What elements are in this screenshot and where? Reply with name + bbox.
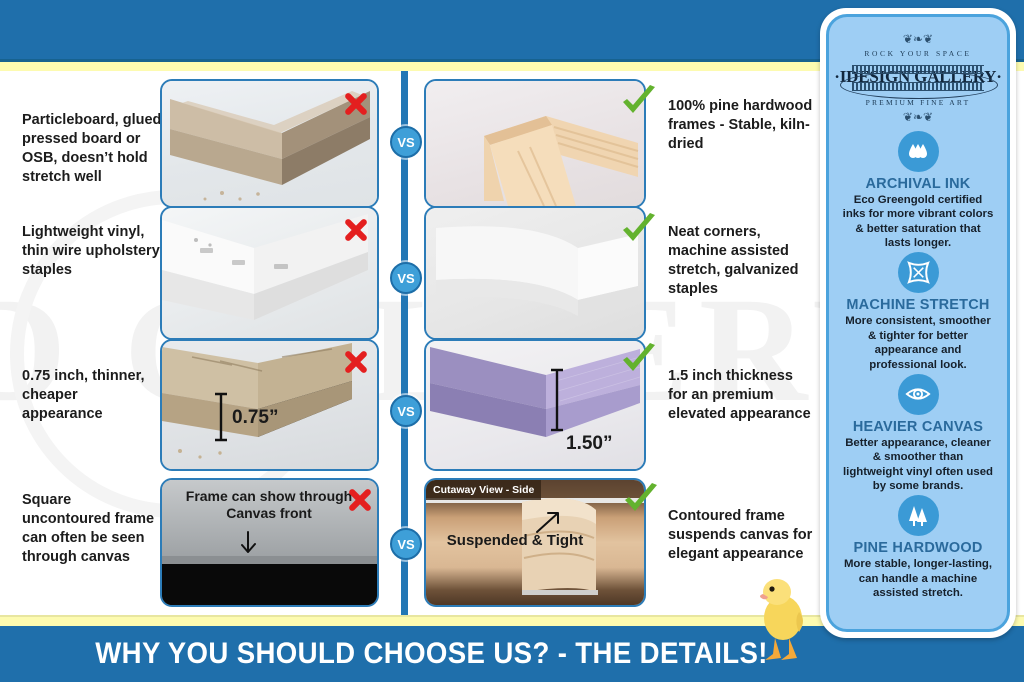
eye-icon (898, 374, 939, 415)
check-mark-icon (620, 213, 658, 252)
x-mark-icon (343, 91, 369, 122)
check-mark-icon (622, 483, 660, 522)
logo-rule (852, 82, 984, 91)
x-mark-icon (343, 217, 369, 248)
features-panel-shell: ❦❧❦ ROCK YOUR SPACE ·IDESIGN GALLERY· PR… (820, 8, 1016, 638)
row-left-label: Particleboard, glued pressed board or OS… (22, 111, 162, 186)
feature-desc: Eco Greengold certified inks for more vi… (838, 193, 998, 250)
feature-title: HEAVIER CANVAS (838, 419, 998, 435)
check-mark-icon (620, 343, 658, 382)
x-mark-icon (343, 349, 369, 380)
feature-pine-hardwood: PINE HARDWOOD More stable, longer-lastin… (838, 495, 998, 600)
vs-badge: VS (390, 395, 422, 427)
our-corner-photo (424, 206, 646, 340)
feature-machine-stretch: MACHINE STRETCH More consistent, smoothe… (838, 252, 998, 371)
watermark: ID GALLERY (0, 150, 820, 550)
vs-badge: VS (390, 528, 422, 560)
thickness-label-ours: 1.50” (566, 433, 612, 456)
row-left-label: Lightweight vinyl, thin wire upholstery … (22, 223, 162, 280)
duckling-image (755, 572, 811, 664)
infographic-page: ID GALLERY THEIR CANVAS OUR CANVAS VS VS… (0, 0, 1024, 682)
feature-title: ARCHIVAL INK (838, 176, 998, 192)
x-mark-icon (347, 487, 373, 518)
cutaway-tag: Cutaway View - Side (426, 480, 541, 500)
our-contour-photo: Cutaway View - Side Suspended & Tight (424, 478, 646, 607)
feature-title: PINE HARDWOOD (838, 540, 998, 556)
vs-badge: VS (390, 262, 422, 294)
feature-archival-ink: ARCHIVAL INK Eco Greengold certified ink… (838, 131, 998, 250)
row-right-label: Neat corners, machine assisted stretch, … (668, 223, 813, 298)
stretched-canvas-icon (898, 252, 939, 293)
brand-logo: ❦❧❦ ROCK YOUR SPACE ·IDESIGN GALLERY· PR… (834, 25, 1002, 129)
thickness-label-their: 0.75” (232, 407, 278, 430)
our-frame-photo (424, 79, 646, 208)
row-right-label: 1.5 inch thickness for an premium elevat… (668, 367, 813, 424)
logo-flourish-icon: ❦❧❦ (834, 111, 1002, 123)
footer-text: WHY YOU SHOULD CHOOSE US? - THE DETAILS! (96, 637, 769, 671)
row-left-label: Square uncontoured frame can often be se… (22, 491, 162, 566)
frame-show-through-label: Frame can show through Canvas front (176, 488, 362, 522)
feature-desc: Better appearance, cleaner & smoother th… (838, 436, 998, 493)
features-panel: ❦❧❦ ROCK YOUR SPACE ·IDESIGN GALLERY· PR… (826, 14, 1010, 632)
our-thickness-photo: 1.50” (424, 339, 646, 471)
vs-badge: VS (390, 126, 422, 158)
suspended-tight-label: Suspended & Tight (440, 532, 590, 550)
logo-tagline-top: ROCK YOUR SPACE (834, 49, 1002, 58)
feature-heavier-canvas: HEAVIER CANVAS Better appearance, cleane… (838, 374, 998, 493)
pine-trees-icon (898, 495, 939, 536)
row-left-label: 0.75 inch, thinner, cheaper appearance (22, 367, 162, 424)
feature-desc: More stable, longer-lasting, can handle … (838, 557, 998, 600)
feature-title: MACHINE STRETCH (838, 297, 998, 313)
logo-flourish-icon: ❦❧❦ (834, 33, 1002, 45)
logo-tagline-bottom: PREMIUM FINE ART (834, 98, 1002, 107)
check-mark-icon (620, 85, 658, 124)
row-right-label: Contoured frame suspends canvas for eleg… (668, 507, 813, 564)
feature-desc: More consistent, smoother & tighter for … (838, 314, 998, 371)
row-right-label: 100% pine hardwood frames - Stable, kiln… (668, 97, 813, 154)
water-drops-icon (898, 131, 939, 172)
